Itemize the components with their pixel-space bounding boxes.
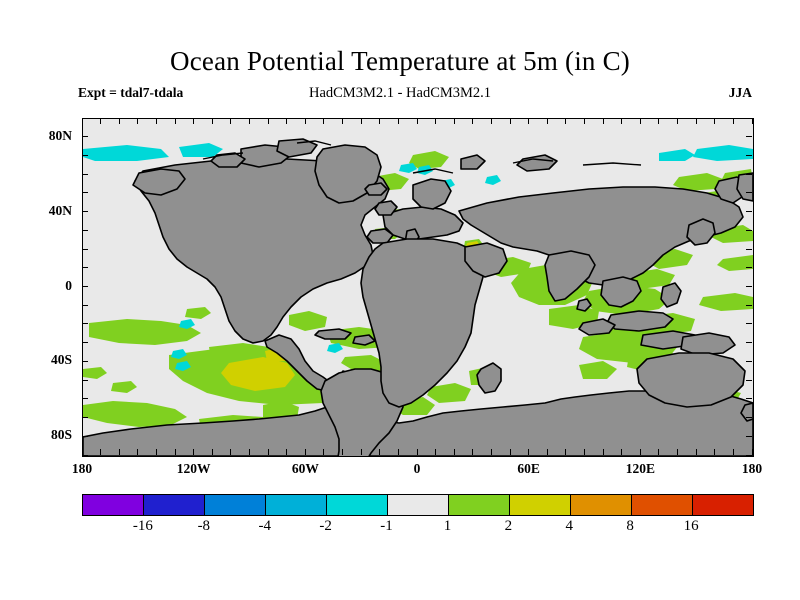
x-tick xyxy=(547,449,548,455)
y-tick xyxy=(82,249,88,250)
x-axis-label: 120E xyxy=(600,461,680,477)
y-tick xyxy=(82,211,88,212)
x-tick xyxy=(175,118,176,124)
x-tick xyxy=(547,118,548,124)
x-tick xyxy=(175,449,176,455)
x-tick xyxy=(472,118,473,124)
x-axis-label: 60E xyxy=(489,461,569,477)
x-tick xyxy=(677,449,678,455)
x-tick xyxy=(361,449,362,455)
x-tick xyxy=(156,449,157,455)
colorbar-tick-label: -1 xyxy=(380,518,393,535)
y-tick xyxy=(746,455,752,456)
x-tick xyxy=(417,118,418,124)
x-tick xyxy=(603,118,604,124)
x-tick xyxy=(528,449,529,455)
y-tick xyxy=(746,118,752,119)
x-tick xyxy=(119,449,120,455)
y-tick xyxy=(746,230,752,231)
y-tick xyxy=(746,211,752,212)
y-tick xyxy=(746,249,752,250)
colorbar-tick-label: 8 xyxy=(626,518,634,535)
model-comparison-label: HadCM3M2.1 - HadCM3M2.1 xyxy=(0,85,800,102)
x-tick xyxy=(268,449,269,455)
x-tick xyxy=(379,118,380,124)
page-title: Ocean Potential Temperature at 5m (in C) xyxy=(0,46,800,77)
x-tick xyxy=(435,449,436,455)
x-tick xyxy=(193,118,194,124)
y-tick xyxy=(82,305,88,306)
colorbar[interactable] xyxy=(82,494,754,516)
colorbar-tick-label: 4 xyxy=(566,518,574,535)
x-tick xyxy=(696,118,697,124)
y-tick xyxy=(82,455,88,456)
x-tick xyxy=(249,118,250,124)
x-tick xyxy=(212,118,213,124)
y-tick xyxy=(746,305,752,306)
y-tick xyxy=(82,136,88,137)
x-tick xyxy=(603,449,604,455)
y-tick xyxy=(746,361,752,362)
colorbar-tick-label: 1 xyxy=(444,518,452,535)
x-tick xyxy=(323,449,324,455)
colorbar-segment[interactable] xyxy=(265,495,326,515)
y-tick xyxy=(82,230,88,231)
colorbar-segment[interactable] xyxy=(631,495,692,515)
colorbar-tick-label: -2 xyxy=(319,518,332,535)
colorbar-tick-label: 2 xyxy=(505,518,513,535)
season-label: JJA xyxy=(729,85,752,101)
colorbar-segment[interactable] xyxy=(204,495,265,515)
y-axis-label: 80S xyxy=(6,427,72,443)
x-tick xyxy=(510,449,511,455)
x-tick xyxy=(212,449,213,455)
x-tick xyxy=(342,449,343,455)
y-tick xyxy=(82,267,88,268)
x-tick xyxy=(621,449,622,455)
x-tick xyxy=(156,118,157,124)
x-axis-label: 180 xyxy=(712,461,792,477)
colorbar-tick-label: -4 xyxy=(258,518,271,535)
y-tick xyxy=(82,192,88,193)
x-tick xyxy=(472,449,473,455)
y-tick xyxy=(82,174,88,175)
y-tick xyxy=(82,155,88,156)
y-tick xyxy=(746,136,752,137)
y-tick xyxy=(746,174,752,175)
x-tick xyxy=(565,449,566,455)
x-tick xyxy=(677,118,678,124)
colorbar-tick-label: -8 xyxy=(198,518,211,535)
x-tick xyxy=(137,449,138,455)
y-tick xyxy=(82,118,88,119)
y-tick xyxy=(82,380,88,381)
x-tick xyxy=(342,118,343,124)
x-tick xyxy=(361,118,362,124)
x-tick xyxy=(268,118,269,124)
x-axis-label: 60W xyxy=(265,461,345,477)
x-tick xyxy=(305,118,306,124)
x-tick xyxy=(584,449,585,455)
x-tick xyxy=(119,118,120,124)
y-tick xyxy=(746,323,752,324)
x-tick xyxy=(454,449,455,455)
x-tick xyxy=(658,449,659,455)
x-tick xyxy=(100,449,101,455)
x-tick xyxy=(528,118,529,124)
colorbar-segment[interactable] xyxy=(387,495,448,515)
colorbar-tick-label: 16 xyxy=(684,518,699,535)
x-tick xyxy=(286,449,287,455)
y-axis-label: 40N xyxy=(6,203,72,219)
x-tick xyxy=(565,118,566,124)
x-tick xyxy=(491,449,492,455)
x-tick xyxy=(230,118,231,124)
x-tick xyxy=(137,118,138,124)
x-tick xyxy=(398,449,399,455)
x-tick xyxy=(249,449,250,455)
x-tick xyxy=(454,118,455,124)
y-tick xyxy=(82,342,88,343)
x-tick xyxy=(696,449,697,455)
colorbar-segment[interactable] xyxy=(570,495,631,515)
colorbar-segment[interactable] xyxy=(326,495,387,515)
x-tick xyxy=(379,449,380,455)
y-tick xyxy=(746,267,752,268)
colorbar-segment[interactable] xyxy=(692,495,753,515)
x-tick xyxy=(714,118,715,124)
y-axis-label: 0 xyxy=(6,278,72,294)
x-tick xyxy=(752,118,753,124)
x-tick xyxy=(621,118,622,124)
x-tick xyxy=(491,118,492,124)
y-tick xyxy=(746,155,752,156)
x-tick xyxy=(398,118,399,124)
x-tick xyxy=(714,449,715,455)
x-axis-label: 120W xyxy=(154,461,234,477)
colorbar-segment[interactable] xyxy=(448,495,509,515)
x-tick xyxy=(230,449,231,455)
x-tick xyxy=(658,118,659,124)
y-tick xyxy=(746,417,752,418)
y-axis-label: 40S xyxy=(6,352,72,368)
map-plot-area xyxy=(82,118,754,457)
x-tick xyxy=(733,449,734,455)
x-tick xyxy=(584,118,585,124)
y-tick xyxy=(82,417,88,418)
figure-root: Ocean Potential Temperature at 5m (in C)… xyxy=(0,0,800,600)
colorbar-segment[interactable] xyxy=(83,495,143,515)
colorbar-segment[interactable] xyxy=(509,495,570,515)
x-tick xyxy=(82,118,83,124)
x-tick xyxy=(640,118,641,124)
y-tick xyxy=(82,361,88,362)
y-tick xyxy=(746,342,752,343)
x-tick xyxy=(640,449,641,455)
y-tick xyxy=(82,286,88,287)
x-axis-label: 180 xyxy=(42,461,122,477)
x-tick xyxy=(305,449,306,455)
x-tick xyxy=(733,118,734,124)
x-tick xyxy=(100,118,101,124)
colorbar-tick-label: -16 xyxy=(133,518,153,535)
y-tick xyxy=(746,192,752,193)
x-tick xyxy=(193,449,194,455)
colorbar-segment[interactable] xyxy=(143,495,204,515)
x-tick xyxy=(286,118,287,124)
y-tick xyxy=(746,436,752,437)
y-tick xyxy=(82,436,88,437)
y-tick xyxy=(82,398,88,399)
y-tick xyxy=(746,380,752,381)
y-tick xyxy=(82,323,88,324)
x-axis-label: 0 xyxy=(377,461,457,477)
x-tick xyxy=(323,118,324,124)
x-tick xyxy=(510,118,511,124)
y-tick xyxy=(746,286,752,287)
x-tick xyxy=(435,118,436,124)
y-axis-label: 80N xyxy=(6,128,72,144)
y-tick xyxy=(746,398,752,399)
x-tick xyxy=(417,449,418,455)
world-anomaly-map xyxy=(83,119,753,456)
